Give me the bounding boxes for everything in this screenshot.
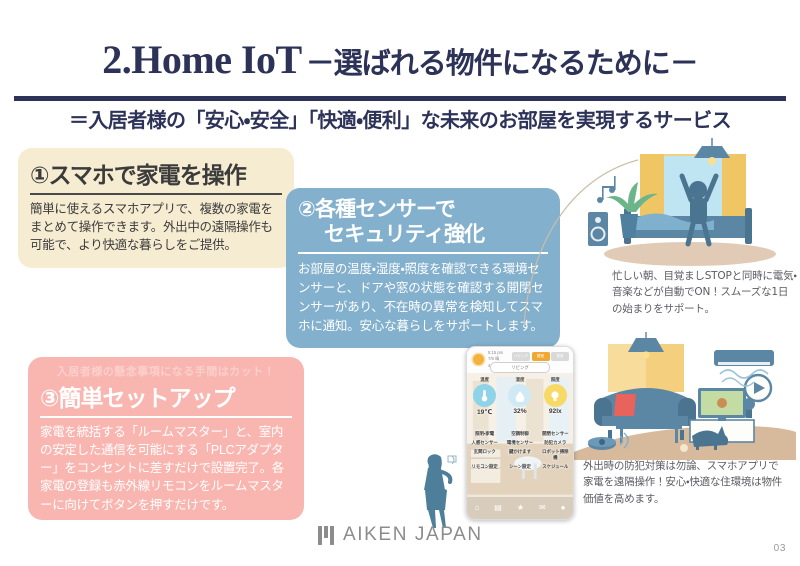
illustration-livingroom <box>568 332 800 460</box>
lamp-bulb-icon <box>708 157 716 165</box>
sensor-illuminance[interactable]: 照度 92lx <box>540 377 570 416</box>
page-subtitle: ＝入居者様の「安心・安全」「快適・便利」な未来のお部屋を実現するサービス <box>0 104 800 133</box>
room-selector-pill[interactable]: リビング <box>490 362 550 373</box>
feature-3-heading: ③簡単セットアップ <box>40 379 292 418</box>
home-icon[interactable]: ⌂ <box>474 504 479 512</box>
title-sub-text: －選ばれる物件になるために－ <box>306 48 698 80</box>
feature-2-heading-line1: ②各種センサーで <box>298 198 455 221</box>
device-item[interactable]: 照明・家電 <box>470 431 500 437</box>
phone-bottom-nav[interactable]: ⌂ ▤ ★ ✉ ● <box>467 497 573 519</box>
thermometer-icon <box>473 384 496 407</box>
device-item[interactable]: ロボット掃除機 <box>540 449 570 461</box>
sensor-humidity-label: 湿度 <box>505 377 535 383</box>
brand-logo-text: AIKEN JAPAN <box>343 524 483 546</box>
weather-sun-icon <box>473 354 484 365</box>
bed-post-right <box>745 208 752 244</box>
room-tab-0[interactable]: リビング <box>512 352 530 361</box>
device-row: 人感センサー 環境センサー 防犯カメラ <box>467 440 573 446</box>
phone-screen-body: 温度 19℃ 湿度 32% 照度 <box>467 373 573 497</box>
illustration-woman-with-phone <box>408 452 464 528</box>
aiken-logo-mark-icon <box>318 526 334 545</box>
favorite-star-icon[interactable]: ★ <box>517 504 524 512</box>
feature-card-easy-setup: 入居者様の懸念事項になる手間はカット！ ③簡単セットアップ 家電を統括する「ルー… <box>28 357 304 520</box>
sensor-humidity[interactable]: 湿度 32% <box>505 377 535 416</box>
caption-away: 外出時の防犯対策は勿論、スマホアプリで家電を遠隔操作！安心・快適な住環境は物件価… <box>583 458 788 507</box>
sensor-temperature-label: 温度 <box>470 377 500 383</box>
brightness-bulb-icon <box>544 384 567 407</box>
device-item[interactable]: スケジュール <box>540 464 570 470</box>
room-tab-2[interactable]: 書斎 <box>551 352 569 361</box>
title-divider-rule <box>14 96 786 101</box>
feature-3-kicker: 入居者様の懸念事項になる手間はカット！ <box>40 363 292 379</box>
device-list-icon[interactable]: ▤ <box>494 504 502 512</box>
page-number: 03 <box>774 543 786 554</box>
device-row: リモコン設定 シーン設定 スケジュール <box>467 464 573 470</box>
floor-shadow <box>604 242 776 266</box>
room-tab-1[interactable]: 寝室 <box>532 352 550 361</box>
device-item[interactable]: 人感センサー <box>470 440 500 446</box>
play-button-icon <box>745 375 771 401</box>
device-item[interactable]: 開閉センサー <box>540 431 570 437</box>
pendant-lamp-shade <box>628 338 664 352</box>
device-item[interactable]: リモコン設定 <box>470 464 500 470</box>
feature-2-body: お部屋の温度・湿度・照度を確認できる環境センサーと、ドアや窓の状態を確認する開閉… <box>298 260 548 335</box>
feature-card-smartphone-control: ①スマホで家電を操作 簡単に使えるスマホアプリで、複数の家電をまとめて操作できま… <box>18 148 294 268</box>
lamp-bulb-icon <box>642 351 649 358</box>
title-main-text: 2.Home IoT <box>102 37 301 82</box>
sensor-illuminance-value: 92lx <box>540 408 570 415</box>
sensor-illuminance-label: 照度 <box>540 377 570 383</box>
feature-3-body: 家電を統括する「ルームマスター」と、室内の安定した通信を可能にする「PLCアダプ… <box>40 423 292 514</box>
device-item[interactable]: 鍵かけます <box>505 449 535 461</box>
red-cushion <box>614 394 636 416</box>
slide-root: 2.Home IoT－選ばれる物件になるために－ ＝入居者様の「安心・安全」「快… <box>0 0 800 566</box>
page-title: 2.Home IoT－選ばれる物件になるために－ <box>0 36 800 83</box>
message-icon[interactable]: ✉ <box>539 504 546 512</box>
device-row: 玄関ロック 鍵かけます ロボット掃除機 <box>467 449 573 461</box>
device-item[interactable]: 玄関ロック <box>470 449 500 461</box>
feature-2-heading-line2: セキュリティ強化 <box>298 222 548 247</box>
caption-morning: 忙しい朝、目覚ましSTOPと同時に電気・音楽などが自動でON！スムーズな1日の始… <box>612 268 798 317</box>
device-item[interactable]: 空調制御 <box>505 431 535 437</box>
brand-logo: AIKEN JAPAN <box>318 521 498 549</box>
feature-1-body: 簡単に使えるスマホアプリで、複数の家電をまとめて操作できます。外出中の遠隔操作も… <box>30 200 282 254</box>
device-item[interactable]: シーン設定 <box>505 464 535 470</box>
device-item[interactable]: 環境センサー <box>505 440 535 446</box>
feature-2-heading: ②各種センサーで セキュリティ強化 <box>298 197 548 254</box>
device-control-list: 照明・家電 空調制御 開閉センサー 人感センサー 環境センサー 防犯カメラ 玄関… <box>467 431 573 473</box>
feature-card-sensors-security: ②各種センサーで セキュリティ強化 お部屋の温度・湿度・照度を確認できる環境セン… <box>286 188 560 348</box>
sensor-temperature[interactable]: 温度 19℃ <box>470 377 500 416</box>
sofa <box>594 388 696 440</box>
device-item[interactable]: 防犯カメラ <box>540 440 570 446</box>
sensor-humidity-value: 32% <box>505 408 535 415</box>
sensor-temperature-value: 19℃ <box>470 408 500 416</box>
phone-status-bar: 5:15 pm 7/8 晴 4.5% 35.0% リビング 寝室 書斎 リビング <box>467 347 573 373</box>
device-row: 照明・家電 空調制御 開閉センサー <box>467 431 573 437</box>
humidity-drop-icon <box>508 384 531 407</box>
settings-gear-icon[interactable]: ● <box>561 504 566 512</box>
feature-1-heading: ①スマホで家電を操作 <box>30 156 282 195</box>
pendant-lamp-shade <box>694 146 730 158</box>
illustration-bedroom <box>578 138 794 268</box>
sensor-readouts: 温度 19℃ 湿度 32% 照度 <box>467 377 573 416</box>
phone-room-tabs[interactable]: リビング 寝室 書斎 <box>512 352 569 361</box>
smartphone-mockup: 5:15 pm 7/8 晴 4.5% 35.0% リビング 寝室 書斎 リビング <box>466 346 574 520</box>
ball <box>680 444 688 452</box>
